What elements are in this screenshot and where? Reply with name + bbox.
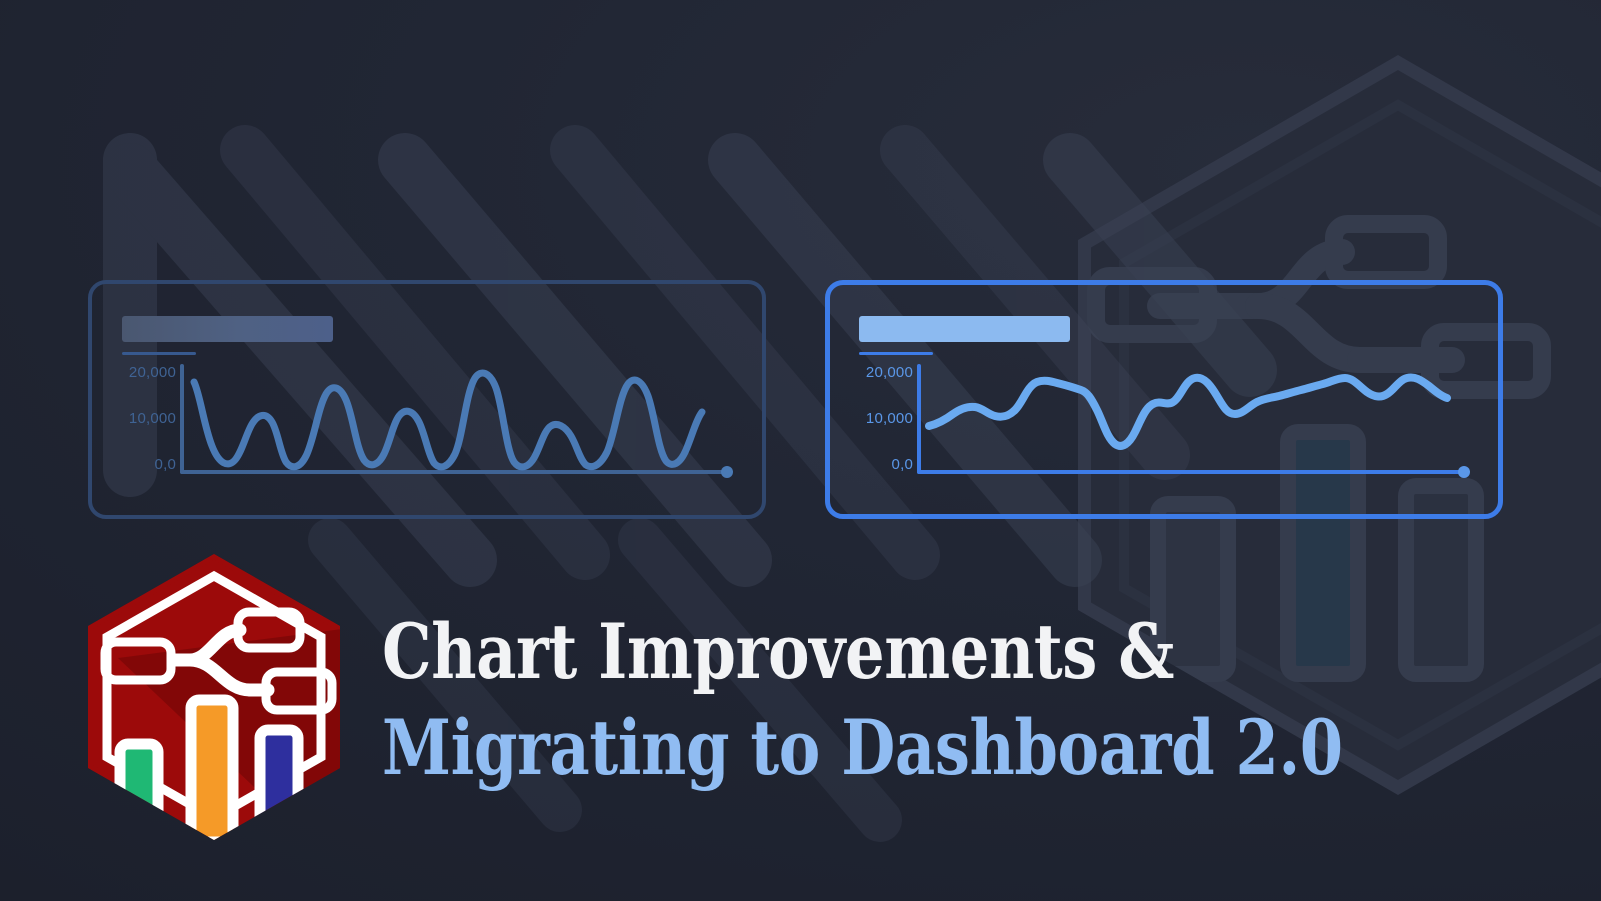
panel-subtitle-rule <box>122 352 196 355</box>
bar-blue <box>260 730 298 840</box>
chart-panel-before[interactable]: 20,000 10,000 0,0 <box>88 280 766 519</box>
chart-panel-after[interactable]: 20,000 10,000 0,0 <box>825 280 1503 519</box>
bar-green <box>120 744 158 840</box>
promo-banner: 20,000 10,000 0,0 20,000 10,000 0,0 <box>0 0 1601 901</box>
headline-block: Chart Improvements & Migrating to Dashbo… <box>382 604 1502 796</box>
headline-line-1: Chart Improvements & <box>382 604 1300 700</box>
x-axis-end-dot <box>1458 466 1470 478</box>
x-axis-end-dot <box>721 466 733 478</box>
line-chart-before <box>178 364 748 494</box>
bar-orange <box>191 700 233 842</box>
hexagon-chart-logo <box>78 548 350 846</box>
panel-subtitle-rule <box>859 352 933 355</box>
headline-line-2: Migrating to Dashboard 2.0 <box>382 700 1300 796</box>
panel-title-placeholder <box>859 316 1070 342</box>
y-tick-0: 0,0 <box>892 456 913 473</box>
y-tick-20000: 20,000 <box>866 364 913 381</box>
y-tick-10000: 10,000 <box>866 410 913 427</box>
y-tick-10000: 10,000 <box>129 410 176 427</box>
y-axis-labels: 20,000 10,000 0,0 <box>851 364 913 486</box>
plot-area-after <box>915 364 1475 482</box>
panel-title-placeholder <box>122 316 333 342</box>
y-tick-20000: 20,000 <box>129 364 176 381</box>
y-axis-labels: 20,000 10,000 0,0 <box>114 364 176 486</box>
y-tick-0: 0,0 <box>155 456 176 473</box>
line-chart-after <box>915 364 1485 494</box>
plot-area-before <box>178 364 738 482</box>
